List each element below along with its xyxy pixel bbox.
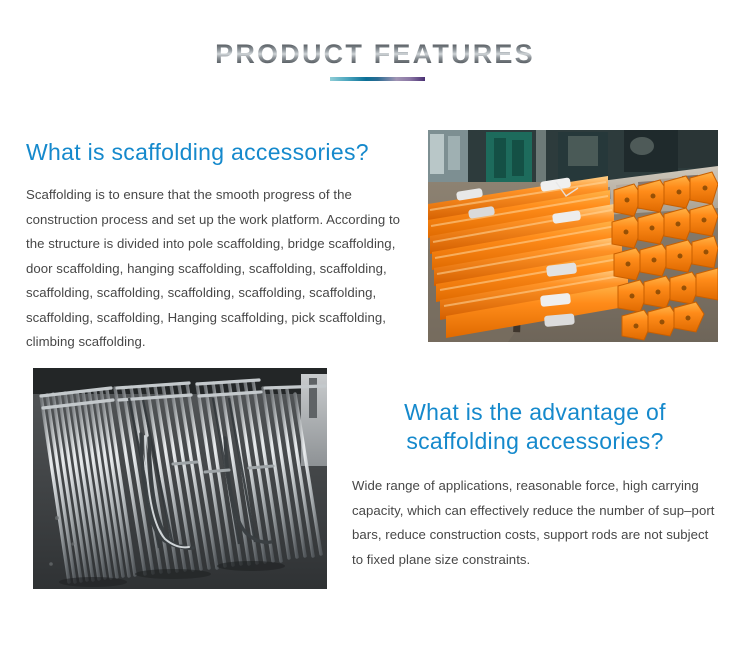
section-advantage-text: What is the advantage ofscaffolding acce… bbox=[352, 398, 718, 572]
product-features-page: PRODUCT FEATURES What is scaffolding acc… bbox=[0, 0, 750, 654]
orange-scaffolding-props-photo bbox=[428, 130, 718, 342]
section-what-is-heading: What is scaffolding accessories? bbox=[26, 138, 412, 167]
section-advantage-heading-line2: scaffolding accessories? bbox=[406, 428, 663, 454]
section-advantage-heading-line1: What is the advantage of bbox=[404, 399, 666, 425]
section-what-is-text: What is scaffolding accessories? Scaffol… bbox=[26, 138, 412, 355]
section-advantage-heading: What is the advantage ofscaffolding acce… bbox=[352, 398, 718, 456]
galvanized-scaffolding-frames-photo bbox=[33, 368, 327, 589]
title-gradient-divider bbox=[330, 77, 425, 81]
banner: PRODUCT FEATURES bbox=[0, 0, 750, 110]
section-what-is-body: Scaffolding is to ensure that the smooth… bbox=[26, 183, 404, 355]
page-title: PRODUCT FEATURES bbox=[0, 38, 750, 70]
section-advantage-body: Wide range of applications, reasonable f… bbox=[352, 474, 718, 572]
